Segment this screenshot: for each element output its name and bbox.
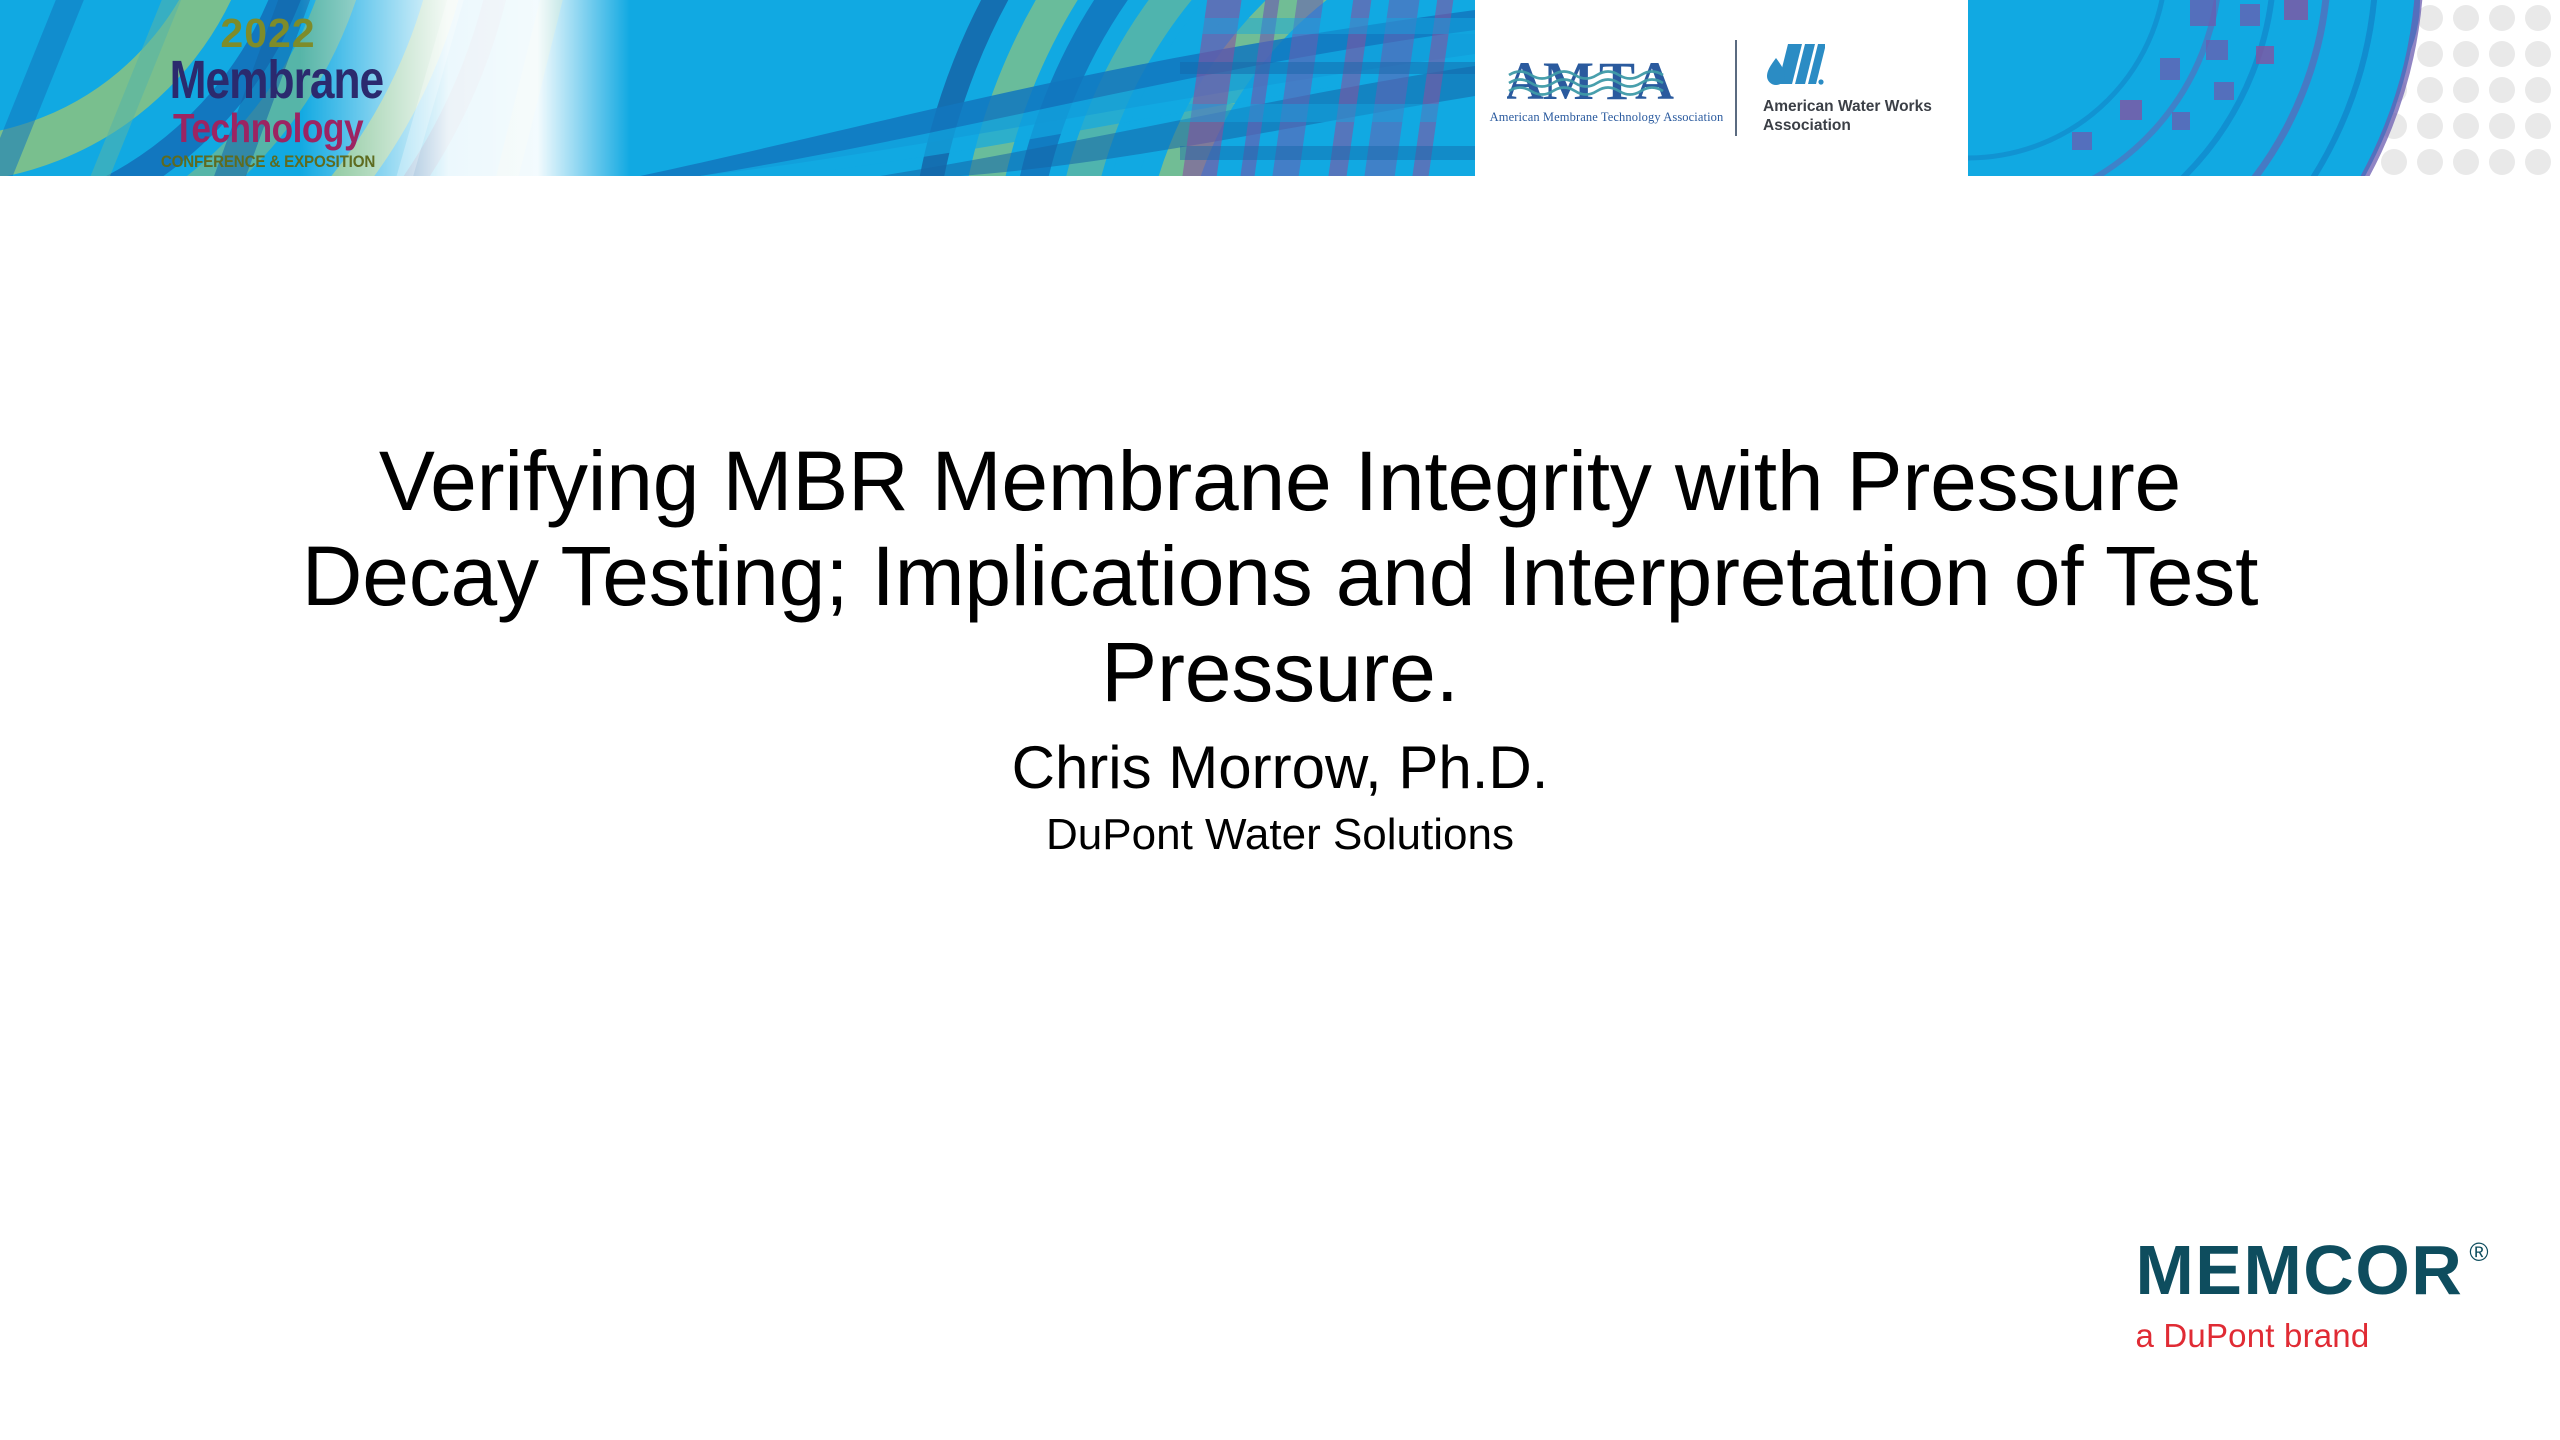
memcor-logo: MEMCOR ® a DuPont brand — [2135, 1235, 2490, 1352]
awwa-logo: American Water Works Association — [1763, 40, 1939, 136]
title-block: Verifying MBR Membrane Integrity with Pr… — [0, 434, 2560, 859]
conference-logo-technology: Technology — [165, 108, 371, 149]
memcor-wordmark-text: MEMCOR — [2135, 1235, 2463, 1305]
conference-logo-membrane: Membrane — [170, 54, 367, 107]
amta-logo: A M T A American Membrane Technology Ass… — [1504, 51, 1709, 125]
slide-header-banner: 2022 Membrane Technology CONFERENCE & EX… — [0, 0, 2560, 176]
memcor-tagline: a DuPont brand — [2135, 1319, 2490, 1352]
amta-acronym-icon: A M T A — [1507, 51, 1707, 109]
awwa-water-drop-icon — [1763, 40, 1825, 92]
membrane-technology-conference-logo: 2022 Membrane Technology CONFERENCE & EX… — [148, 14, 388, 170]
logo-divider — [1735, 40, 1737, 136]
awwa-organization-name: American Water Works Association — [1763, 98, 1932, 136]
presentation-title: Verifying MBR Membrane Integrity with Pr… — [280, 434, 2280, 720]
presenter-affiliation: DuPont Water Solutions — [0, 811, 2560, 859]
conference-year: 2022 — [148, 14, 388, 53]
conference-logo-subtitle: CONFERENCE & EXPOSITION — [158, 154, 379, 171]
association-logo-panel: A M T A American Membrane Technology Ass… — [1475, 0, 1968, 176]
presenter-name: Chris Morrow, Ph.D. — [0, 736, 2560, 801]
presentation-slide: 2022 Membrane Technology CONFERENCE & EX… — [0, 0, 2560, 1440]
registered-trademark-icon: ® — [2469, 1239, 2490, 1265]
memcor-wordmark: MEMCOR ® — [2135, 1235, 2490, 1305]
amta-full-name: American Membrane Technology Association — [1490, 110, 1724, 125]
